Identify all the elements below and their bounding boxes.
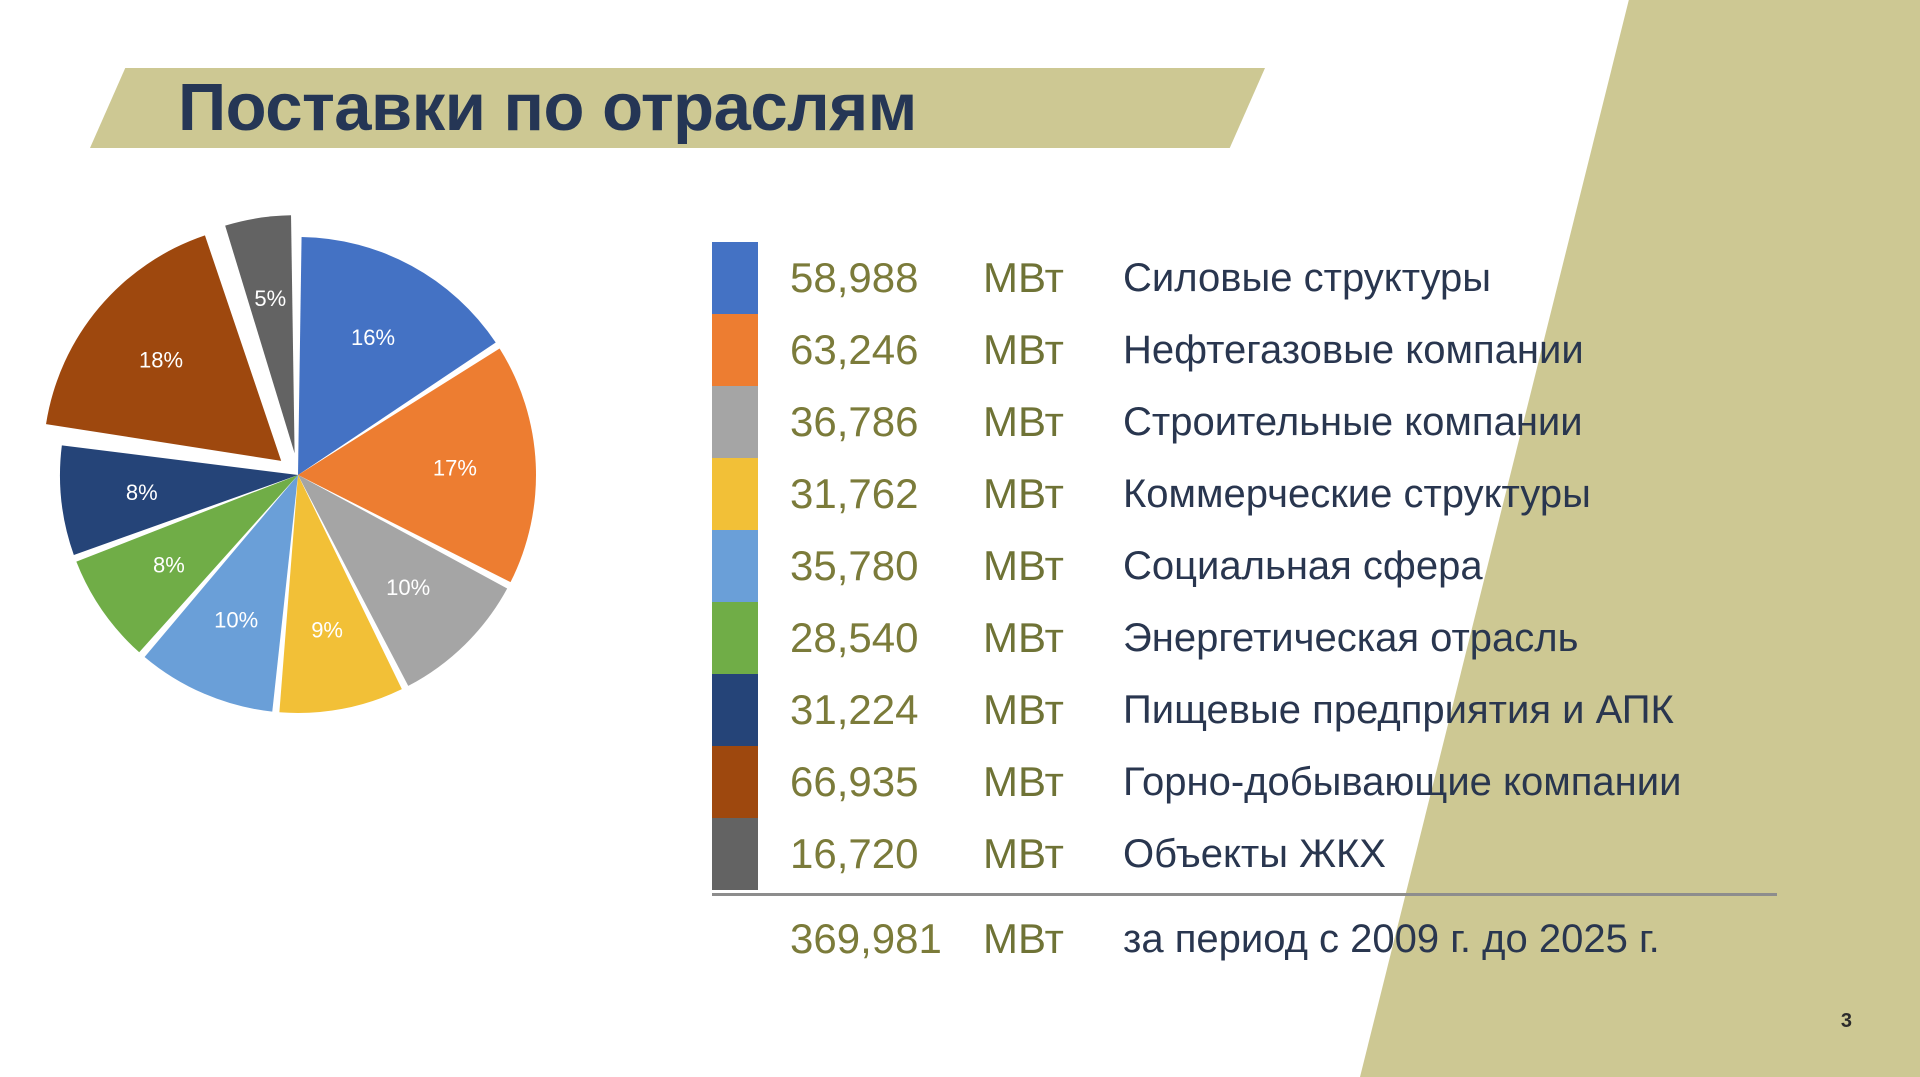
legend-label: Горно-добывающие компании <box>1123 760 1782 805</box>
legend-swatch <box>712 314 758 386</box>
legend-value: 31,224 <box>758 686 983 734</box>
legend-row[interactable]: 36,786 МВт Строительные компании <box>712 386 1782 458</box>
legend-swatch <box>712 818 758 890</box>
legend-label: Социальная сфера <box>1123 544 1782 589</box>
pie-percent-label: 16% <box>351 325 395 350</box>
pie-percent-label: 17% <box>433 456 477 481</box>
legend-unit: МВт <box>983 254 1123 302</box>
legend-swatch <box>712 458 758 530</box>
pie-chart: 16%17%10%9%10%8%8%18%5% <box>30 185 600 765</box>
legend-unit: МВт <box>983 470 1123 518</box>
legend-unit: МВт <box>983 686 1123 734</box>
page-number: 3 <box>1841 1010 1852 1033</box>
total-value: 369,981 <box>758 915 983 963</box>
legend-row[interactable]: 16,720 МВт Объекты ЖКХ <box>712 818 1782 890</box>
pie-percent-label: 10% <box>386 575 430 600</box>
legend-unit: МВт <box>983 830 1123 878</box>
legend-row[interactable]: 35,780 МВт Социальная сфера <box>712 530 1782 602</box>
legend-swatch <box>712 602 758 674</box>
total-unit: МВт <box>983 915 1123 963</box>
page-title: Поставки по отраслям <box>178 60 917 156</box>
legend-unit: МВт <box>983 398 1123 446</box>
legend-swatch <box>712 530 758 602</box>
pie-percent-label: 8% <box>153 553 185 578</box>
legend-row[interactable]: 31,224 МВт Пищевые предприятия и АПК <box>712 674 1782 746</box>
legend-swatch <box>712 674 758 746</box>
legend-label: Коммерческие структуры <box>1123 472 1782 517</box>
legend-swatch <box>712 386 758 458</box>
legend-total-divider <box>712 893 1777 896</box>
legend-value: 31,762 <box>758 470 983 518</box>
legend-row[interactable]: 31,762 МВт Коммерческие структуры <box>712 458 1782 530</box>
legend-label: Энергетическая отрасль <box>1123 616 1782 661</box>
legend-label: Силовые структуры <box>1123 256 1782 301</box>
total-label: за период с 2009 г. до 2025 г. <box>1123 917 1782 962</box>
legend-value: 58,988 <box>758 254 983 302</box>
legend-total-row: 369,981 МВт за период с 2009 г. до 2025 … <box>712 903 1782 975</box>
legend-row[interactable]: 58,988 МВт Силовые структуры <box>712 242 1782 314</box>
legend-unit: МВт <box>983 758 1123 806</box>
legend-label: Объекты ЖКХ <box>1123 832 1782 877</box>
legend-value: 36,786 <box>758 398 983 446</box>
legend-unit: МВт <box>983 542 1123 590</box>
pie-percent-label: 8% <box>126 480 158 505</box>
legend-row[interactable]: 63,246 МВт Нефтегазовые компании <box>712 314 1782 386</box>
legend-label: Строительные компании <box>1123 400 1782 445</box>
legend-list: 58,988 МВт Силовые структуры 63,246 МВт … <box>712 242 1782 890</box>
legend-value: 35,780 <box>758 542 983 590</box>
legend-row[interactable]: 28,540 МВт Энергетическая отрасль <box>712 602 1782 674</box>
legend-value: 16,720 <box>758 830 983 878</box>
legend-unit: МВт <box>983 614 1123 662</box>
legend-value: 63,246 <box>758 326 983 374</box>
pie-percent-label: 9% <box>311 617 343 642</box>
total-swatch-spacer <box>712 903 758 975</box>
legend-swatch <box>712 746 758 818</box>
pie-percent-label: 18% <box>139 348 183 373</box>
pie-percent-label: 10% <box>214 607 258 632</box>
legend-label: Пищевые предприятия и АПК <box>1123 688 1782 733</box>
legend-value: 66,935 <box>758 758 983 806</box>
pie-percent-label: 5% <box>254 286 286 311</box>
legend-unit: МВт <box>983 326 1123 374</box>
legend-label: Нефтегазовые компании <box>1123 328 1782 373</box>
legend-value: 28,540 <box>758 614 983 662</box>
legend-swatch <box>712 242 758 314</box>
pie-chart-svg: 16%17%10%9%10%8%8%18%5% <box>30 185 600 765</box>
legend-row[interactable]: 66,935 МВт Горно-добывающие компании <box>712 746 1782 818</box>
